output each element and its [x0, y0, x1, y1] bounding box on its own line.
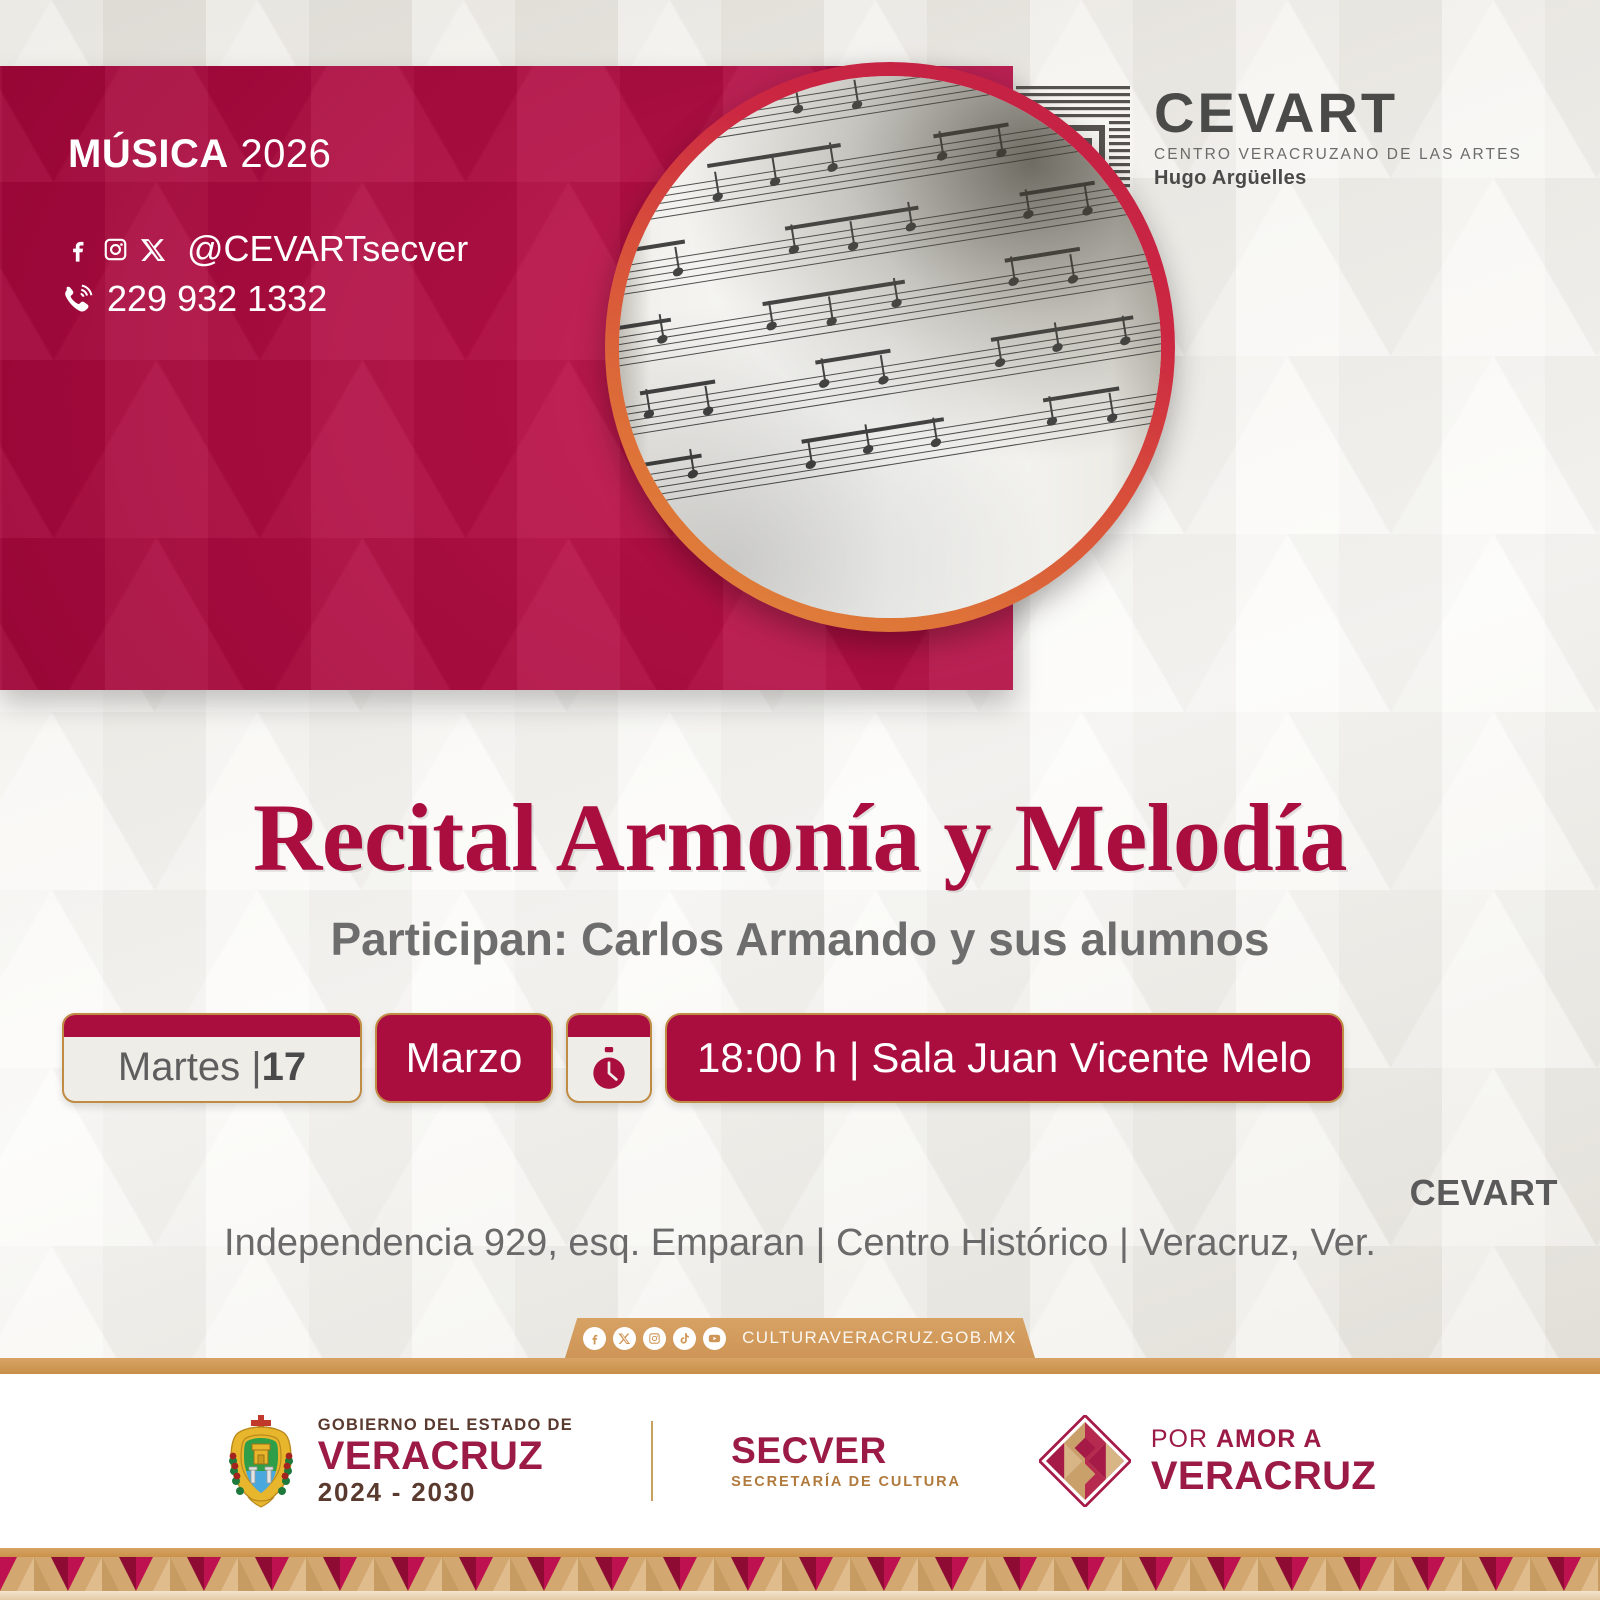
- phone-icon: [60, 284, 94, 314]
- website-url[interactable]: CULTURAVERACRUZ.GOB.MX: [742, 1328, 1017, 1348]
- zigzag-triangle: [1411, 1557, 1445, 1591]
- x-icon[interactable]: [613, 1327, 636, 1350]
- zigzag-triangle: [255, 1557, 289, 1591]
- footer-divider: [651, 1421, 653, 1501]
- phone-number: 229 932 1332: [107, 278, 327, 320]
- footer-logos: GOBIERNO DEL ESTADO DE VERACRUZ 2024 - 2…: [0, 1374, 1600, 1548]
- event-poster: MÚSICA 2026 @CEVARTsecver 229 932 1332: [0, 0, 1600, 1600]
- zigzag-triangle: [901, 1557, 935, 1591]
- zigzag-triangle: [0, 1557, 17, 1591]
- zigzag-triangle: [459, 1557, 493, 1591]
- zigzag-triangle: [697, 1557, 731, 1591]
- zigzag-triangle: [1377, 1557, 1411, 1591]
- social-website-strip: CULTURAVERACRUZ.GOB.MX: [565, 1318, 1035, 1358]
- zigzag-border: [0, 1557, 1600, 1591]
- amor-line1-bold: AMOR A: [1216, 1425, 1322, 1453]
- zigzag-triangle: [1343, 1557, 1377, 1591]
- zigzag-triangle: [595, 1557, 629, 1591]
- zigzag-triangle: [663, 1557, 697, 1591]
- zigzag-triangle: [527, 1557, 561, 1591]
- zigzag-triangle: [425, 1557, 459, 1591]
- zigzag-triangle: [1071, 1557, 1105, 1591]
- cevart-person: Hugo Argüelles: [1154, 167, 1522, 190]
- zigzag-triangle: [731, 1557, 765, 1591]
- venue-name: CEVART: [1410, 1172, 1558, 1214]
- social-handle-text: @CEVARTsecver: [187, 228, 468, 270]
- amor-line1-light: POR: [1151, 1425, 1216, 1453]
- sheet-music-photo: [619, 76, 1161, 618]
- zigzag-triangle: [1275, 1557, 1309, 1591]
- month-pill: Marzo: [375, 1013, 553, 1103]
- time-venue-pill: 18:00 h | Sala Juan Vicente Melo: [665, 1013, 1344, 1103]
- zigzag-triangle: [1513, 1557, 1547, 1591]
- zigzag-triangle: [561, 1557, 595, 1591]
- date-pill: Martes | 17: [62, 1013, 362, 1103]
- zigzag-triangle: [323, 1557, 357, 1591]
- photo-shading: [619, 76, 1161, 618]
- participants-subtitle: Participan: Carlos Armando y sus alumnos: [0, 912, 1600, 966]
- clock-pill-cap: [568, 1015, 650, 1037]
- zigzag-triangle: [1445, 1557, 1479, 1591]
- zigzag-triangle: [765, 1557, 799, 1591]
- zigzag-triangle: [1547, 1557, 1581, 1591]
- instagram-icon[interactable]: [643, 1327, 666, 1350]
- zigzag-triangle: [493, 1557, 527, 1591]
- zigzag-triangle: [1479, 1557, 1513, 1591]
- event-details-row: Martes | 17 Marzo 18:00 h | Sala Juan Vi…: [62, 1013, 1344, 1103]
- zigzag-triangle: [17, 1557, 51, 1591]
- zigzag-triangle: [629, 1557, 663, 1591]
- venue-address: Independencia 929, esq. Emparan | Centro…: [0, 1222, 1600, 1265]
- facebook-icon[interactable]: [583, 1327, 606, 1350]
- zigzag-triangle: [799, 1557, 833, 1591]
- zigzag-triangle: [833, 1557, 867, 1591]
- phone-row: 229 932 1332: [60, 278, 327, 320]
- secver-wordmark: SECVER: [731, 1432, 961, 1469]
- government-logo-group: GOBIERNO DEL ESTADO DE VERACRUZ 2024 - 2…: [224, 1413, 573, 1509]
- zigzag-triangle: [85, 1557, 119, 1591]
- tiktok-icon[interactable]: [673, 1327, 696, 1350]
- secver-subtitle: SECRETARÍA DE CULTURA: [731, 1475, 961, 1490]
- zigzag-triangle: [1003, 1557, 1037, 1591]
- page-title: Recital Armonía y Melodía: [0, 782, 1600, 893]
- zigzag-triangle: [1581, 1557, 1600, 1591]
- zigzag-triangle: [1207, 1557, 1241, 1591]
- zigzag-triangle: [1241, 1557, 1275, 1591]
- zigzag-triangle: [289, 1557, 323, 1591]
- zigzag-triangle: [153, 1557, 187, 1591]
- clock-icon: [586, 1046, 632, 1092]
- gold-divider-bar: [0, 1358, 1600, 1374]
- category-heading: MÚSICA 2026: [68, 132, 331, 177]
- category-label: MÚSICA: [68, 132, 229, 176]
- zigzag-triangle: [1309, 1557, 1343, 1591]
- zigzag-triangle: [1173, 1557, 1207, 1591]
- zigzag-triangle: [391, 1557, 425, 1591]
- date-pill-cap: [64, 1015, 360, 1037]
- facebook-icon[interactable]: [64, 236, 91, 263]
- day-number: 17: [262, 1045, 307, 1090]
- geometric-heart-icon: [1039, 1415, 1131, 1507]
- zigzag-triangle: [357, 1557, 391, 1591]
- zigzag-triangle: [1139, 1557, 1173, 1591]
- zigzag-top-bar: [0, 1548, 1600, 1557]
- clock-pill: [566, 1013, 652, 1103]
- category-year: 2026: [240, 132, 331, 176]
- zigzag-triangle: [969, 1557, 1003, 1591]
- zigzag-triangle: [119, 1557, 153, 1591]
- cevart-subtitle: CENTRO VERACRUZANO DE LAS ARTES: [1154, 146, 1522, 164]
- zigzag-triangle: [1037, 1557, 1071, 1591]
- government-line1: GOBIERNO DEL ESTADO DE: [318, 1417, 573, 1434]
- zigzag-triangle: [867, 1557, 901, 1591]
- zigzag-triangle: [935, 1557, 969, 1591]
- zigzag-triangle: [221, 1557, 255, 1591]
- veracruz-coat-of-arms: [224, 1413, 298, 1509]
- weekday-label: Martes |: [118, 1045, 262, 1090]
- government-line2: VERACRUZ: [318, 1436, 573, 1476]
- government-line3: 2024 - 2030: [318, 1479, 573, 1505]
- x-icon[interactable]: [140, 236, 167, 263]
- por-amor-logo-group: POR AMOR A VERACRUZ: [1039, 1415, 1376, 1507]
- secver-logo: SECVER SECRETARÍA DE CULTURA: [731, 1432, 961, 1490]
- amor-line2: VERACRUZ: [1151, 1456, 1376, 1496]
- youtube-icon[interactable]: [703, 1327, 726, 1350]
- instagram-icon[interactable]: [102, 236, 129, 263]
- photo-ring: [605, 62, 1175, 632]
- zigzag-triangle: [1105, 1557, 1139, 1591]
- zigzag-triangle: [51, 1557, 85, 1591]
- social-handle-row: @CEVARTsecver: [64, 228, 468, 270]
- zigzag-triangle: [187, 1557, 221, 1591]
- zigzag-bottom-bar: [0, 1591, 1600, 1600]
- cevart-wordmark: CEVART: [1154, 86, 1522, 139]
